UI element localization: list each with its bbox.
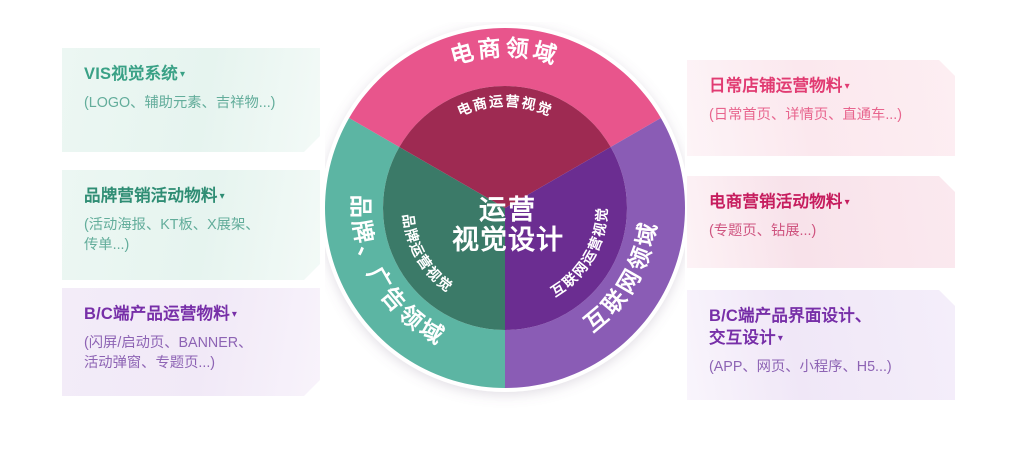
- card-title: 日常店铺运营物料▾: [709, 76, 937, 98]
- infographic-canvas: VIS视觉系统▾ (LOGO、辅助元素、吉祥物...) 品牌营销活动物料▾ (活…: [0, 0, 1010, 450]
- chevron-down-icon[interactable]: ▾: [845, 197, 850, 208]
- card-subtitle: (活动海报、KT板、X展架、 传单...): [84, 215, 302, 256]
- inner-ring: [383, 86, 627, 330]
- card-bc-product-operation-materials[interactable]: B/C端产品运营物料▾ (闪屏/启动页、BANNER、 活动弹窗、专题页...): [62, 288, 320, 396]
- donut-chart: 品牌、广告领域品牌运营视觉电商领域电商运营视觉互联网领域互联网运营视觉 运营 视…: [325, 22, 685, 428]
- card-title: 品牌营销活动物料▾: [84, 186, 302, 208]
- card-title: B/C端产品界面设计、 交互设计▾: [709, 306, 937, 350]
- card-subtitle: (APP、网页、小程序、H5...): [709, 357, 937, 377]
- card-vis-visual-system[interactable]: VIS视觉系统▾ (LOGO、辅助元素、吉祥物...): [62, 48, 320, 152]
- card-subtitle: (LOGO、辅助元素、吉祥物...): [84, 93, 302, 113]
- card-title: B/C端产品运营物料▾: [84, 304, 302, 326]
- card-daily-store-operation-materials[interactable]: 日常店铺运营物料▾ (日常首页、详情页、直通车...): [687, 60, 955, 156]
- card-title-text: 电商营销活动物料: [709, 193, 843, 211]
- chevron-down-icon[interactable]: ▾: [845, 81, 850, 92]
- chevron-down-icon[interactable]: ▾: [220, 191, 225, 202]
- card-subtitle: (专题页、钻展...): [709, 221, 937, 241]
- card-title-text: B/C端产品界面设计、 交互设计: [709, 307, 872, 347]
- card-title: 电商营销活动物料▾: [709, 192, 937, 214]
- card-subtitle: (日常首页、详情页、直通车...): [709, 105, 937, 125]
- card-title-text: 日常店铺运营物料: [709, 77, 843, 95]
- card-ecommerce-marketing-materials[interactable]: 电商营销活动物料▾ (专题页、钻展...): [687, 176, 955, 268]
- donut-chart-svg: 品牌、广告领域品牌运营视觉电商领域电商运营视觉互联网领域互联网运营视觉: [325, 22, 685, 428]
- card-title-text: B/C端产品运营物料: [84, 305, 230, 323]
- card-subtitle: (闪屏/启动页、BANNER、 活动弹窗、专题页...): [84, 333, 302, 374]
- card-title: VIS视觉系统▾: [84, 64, 302, 86]
- chevron-down-icon[interactable]: ▾: [778, 333, 783, 344]
- card-title-text: 品牌营销活动物料: [84, 187, 218, 205]
- card-bc-product-ui-interaction-design[interactable]: B/C端产品界面设计、 交互设计▾ (APP、网页、小程序、H5...): [687, 290, 955, 400]
- card-brand-marketing-materials[interactable]: 品牌营销活动物料▾ (活动海报、KT板、X展架、 传单...): [62, 170, 320, 280]
- card-title-text: VIS视觉系统: [84, 65, 178, 83]
- chevron-down-icon[interactable]: ▾: [180, 69, 185, 80]
- chevron-down-icon[interactable]: ▾: [232, 309, 237, 320]
